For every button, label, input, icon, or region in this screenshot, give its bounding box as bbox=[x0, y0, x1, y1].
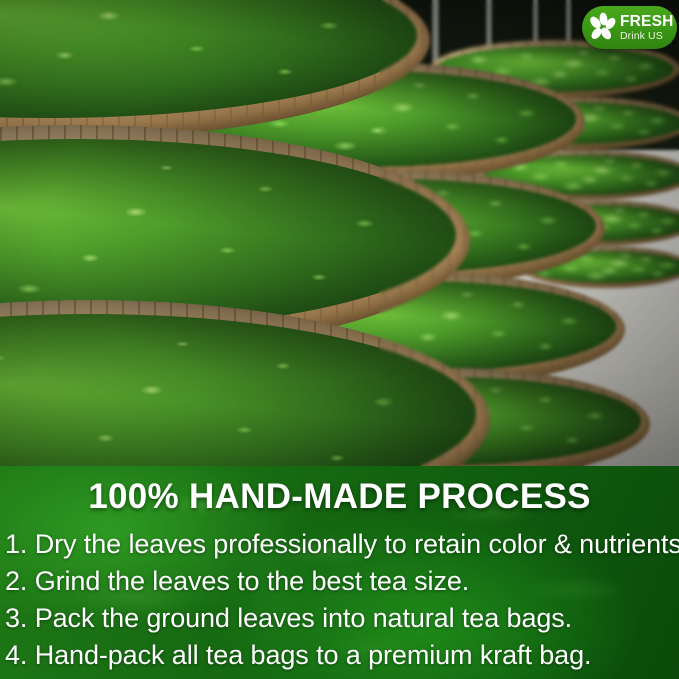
process-panel: 100% HAND-MADE PROCESS 1. Dry the leaves… bbox=[0, 466, 679, 679]
process-step: 4. Hand-pack all tea bags to a premium k… bbox=[5, 637, 674, 674]
process-step: 1. Dry the leaves professionally to reta… bbox=[5, 526, 674, 563]
leaf-cluster-icon bbox=[588, 12, 617, 43]
product-infographic: FRESH Drink US 100% HAND-MADE PROCESS 1.… bbox=[0, 0, 679, 679]
logo-subtitle: Drink US bbox=[620, 31, 674, 42]
logo-name: FRESH bbox=[620, 14, 674, 30]
process-photo bbox=[0, 0, 679, 466]
process-steps-list: 1. Dry the leaves professionally to reta… bbox=[0, 526, 679, 674]
logo-text: FRESH Drink US bbox=[620, 14, 674, 42]
brand-logo[interactable]: FRESH Drink US bbox=[582, 6, 677, 49]
process-step: 3. Pack the ground leaves into natural t… bbox=[5, 600, 674, 637]
process-step: 2. Grind the leaves to the best tea size… bbox=[5, 563, 674, 600]
panel-headline: 100% HAND-MADE PROCESS bbox=[0, 477, 679, 517]
